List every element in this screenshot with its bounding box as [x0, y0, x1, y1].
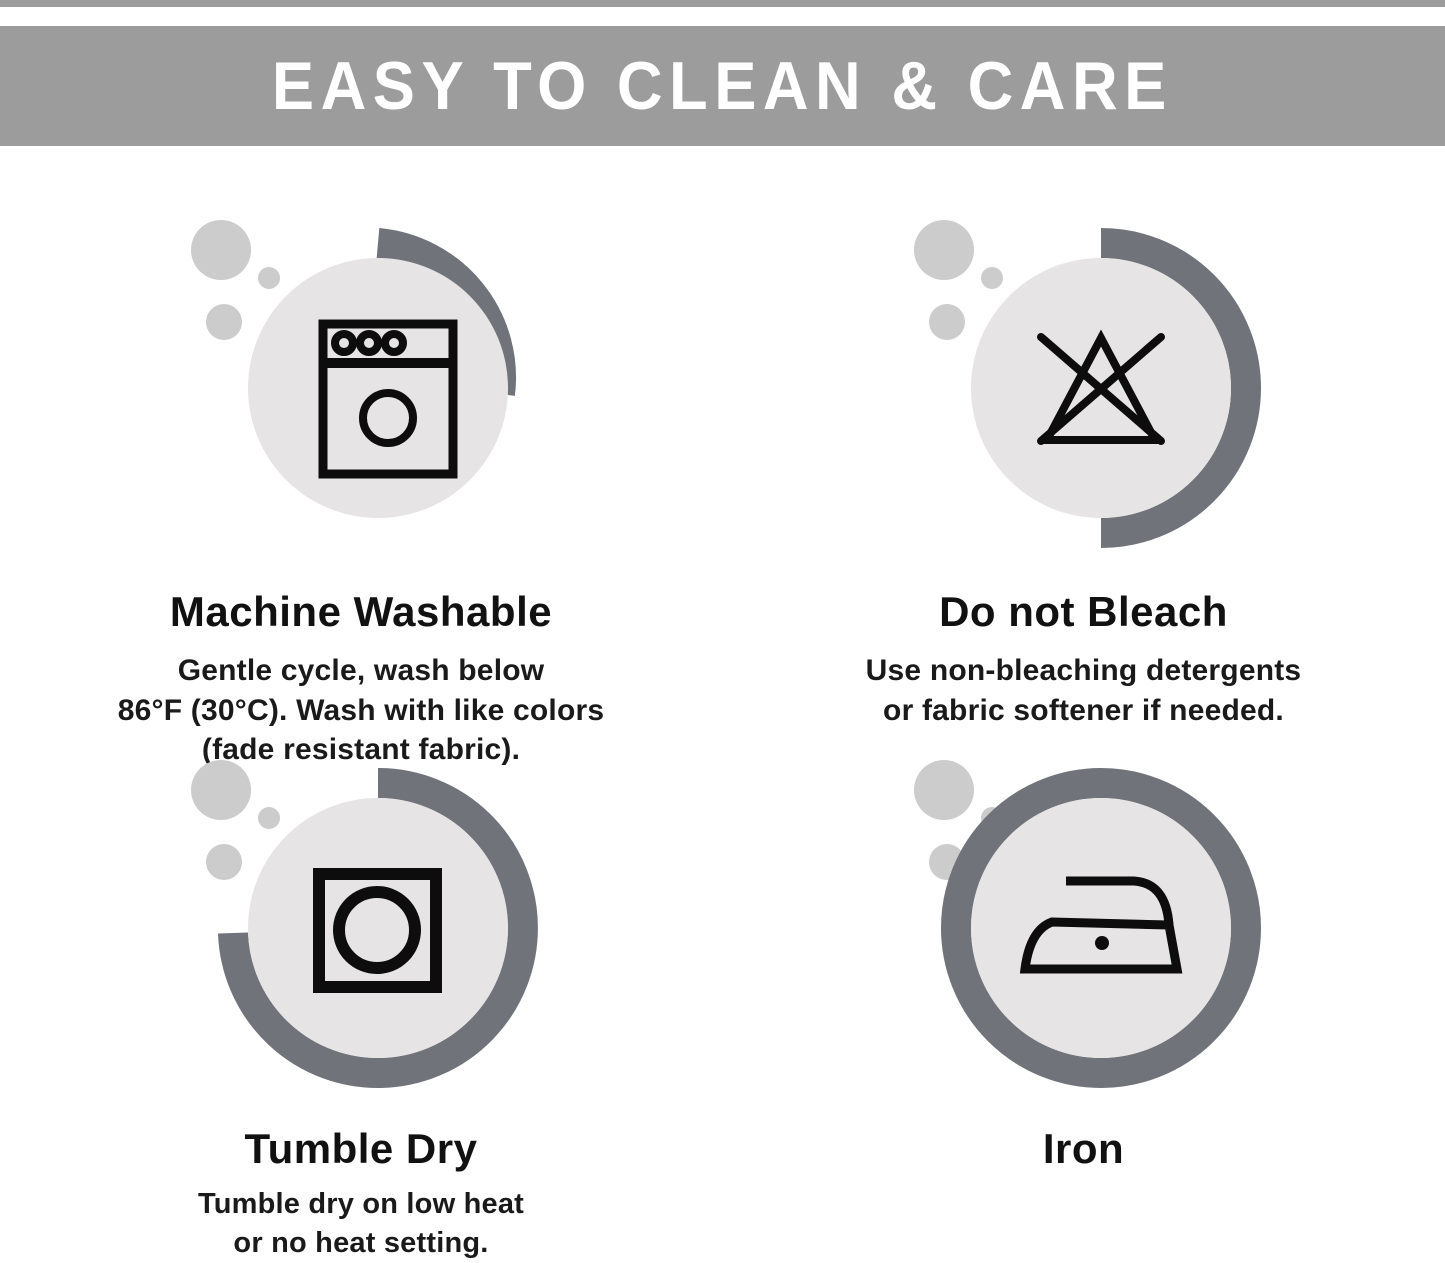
iron-heat-dot-icon	[1095, 936, 1109, 950]
tumble-dry-badge	[166, 750, 566, 1100]
badge-circle	[248, 258, 508, 518]
badge-circle	[248, 798, 508, 1058]
bubble-medium-icon	[206, 844, 242, 880]
bubble-small-icon	[258, 807, 280, 829]
bubble-small-icon	[258, 267, 280, 289]
badge-circle	[971, 798, 1231, 1058]
care-title-tumble-dry: Tumble Dry	[245, 1125, 478, 1173]
page-banner: EASY TO CLEAN & CARE	[0, 26, 1445, 146]
bubble-large-icon	[914, 760, 974, 820]
care-card-machine-washable: Machine Washable Gentle cycle, wash belo…	[0, 155, 722, 740]
care-card-tumble-dry: Tumble Dry Tumble dry on low heat or no …	[0, 740, 722, 1263]
do-not-bleach-badge	[889, 210, 1289, 560]
tumble-dry-icon	[166, 750, 566, 1100]
page-title: EASY TO CLEAN & CARE	[272, 52, 1173, 120]
bubble-medium-icon	[929, 304, 965, 340]
care-description-tumble-dry: Tumble dry on low heat or no heat settin…	[198, 1185, 524, 1262]
care-description-do-not-bleach: Use non-bleaching detergents or fabric s…	[866, 651, 1302, 730]
iron-badge	[889, 750, 1289, 1100]
iron-icon	[889, 750, 1289, 1100]
bubble-medium-icon	[206, 304, 242, 340]
care-title-iron: Iron	[1043, 1125, 1124, 1173]
washing-machine-badge	[166, 210, 566, 560]
care-card-iron: Iron	[722, 740, 1445, 1263]
bubble-small-icon	[981, 267, 1003, 289]
care-title-machine-washable: Machine Washable	[170, 588, 552, 636]
care-title-do-not-bleach: Do not Bleach	[939, 588, 1228, 636]
bubble-large-icon	[191, 220, 251, 280]
bubble-large-icon	[191, 760, 251, 820]
care-instructions-grid: Machine Washable Gentle cycle, wash belo…	[0, 155, 1445, 1263]
washing-machine-icon	[166, 210, 566, 560]
care-card-do-not-bleach: Do not Bleach Use non-bleaching detergen…	[722, 155, 1445, 740]
top-divider-rule	[0, 0, 1445, 7]
do-not-bleach-icon	[889, 210, 1289, 560]
bubble-large-icon	[914, 220, 974, 280]
